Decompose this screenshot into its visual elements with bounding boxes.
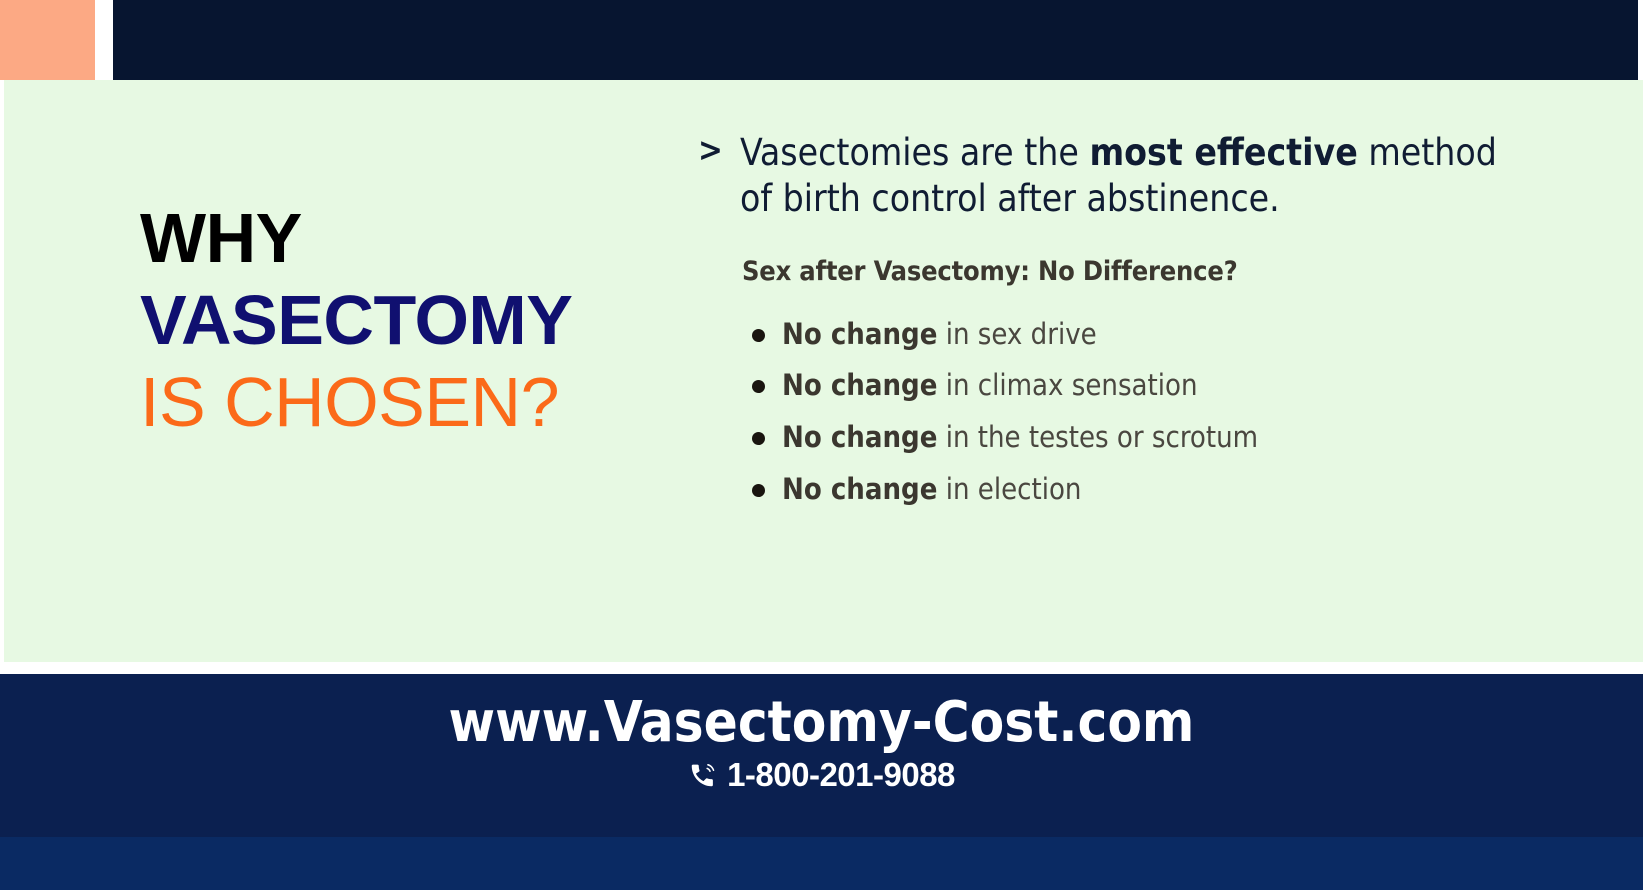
lead-text-before: Vasectomies are the [740,131,1089,174]
list-item-bold: No change [782,472,937,506]
title-line-is-chosen: IS CHOSEN? [140,362,700,444]
content-column: >Vasectomies are the most effective meth… [698,130,1528,515]
phone-number[interactable]: 1-800-201-9088 [727,756,955,794]
accent-block-salmon [0,0,95,80]
list-item: No change in climax sensation [742,360,1528,412]
chevron-right-icon: > [698,130,723,171]
list-item-bold: No change [782,317,937,351]
phone-ringing-icon [688,760,718,790]
list-item-rest: in climax sensation [937,368,1197,402]
page-title: WHY VASECTOMY IS CHOSEN? [140,198,700,444]
section-subheading: Sex after Vasectomy: No Difference? [742,256,1528,287]
list-item: No change in the testes or scrotum [742,412,1528,464]
lead-text-emphasis: most effective [1089,131,1357,174]
slide-canvas: WHY VASECTOMY IS CHOSEN? >Vasectomies ar… [0,0,1643,890]
footer-bottom-strip [0,837,1643,890]
list-item-bold: No change [782,420,937,454]
list-item-rest: in the testes or scrotum [937,420,1258,454]
title-line-why: WHY [140,198,700,280]
title-line-vasectomy: VASECTOMY [140,280,700,362]
list-item-rest: in election [937,472,1081,506]
list-item-rest: in sex drive [937,317,1096,351]
website-url[interactable]: www.Vasectomy-Cost.com [0,694,1643,751]
footer-bar: www.Vasectomy-Cost.com 1-800-201-9088 [0,674,1643,837]
footer-separator [0,662,1643,674]
list-item: No change in election [742,464,1528,516]
list-item-bold: No change [782,368,937,402]
header-bar [113,0,1638,80]
list-item: No change in sex drive [742,309,1528,361]
benefits-list: No change in sex drive No change in clim… [742,309,1528,515]
phone-row[interactable]: 1-800-201-9088 [0,756,1643,794]
lead-statement: >Vasectomies are the most effective meth… [698,130,1528,222]
